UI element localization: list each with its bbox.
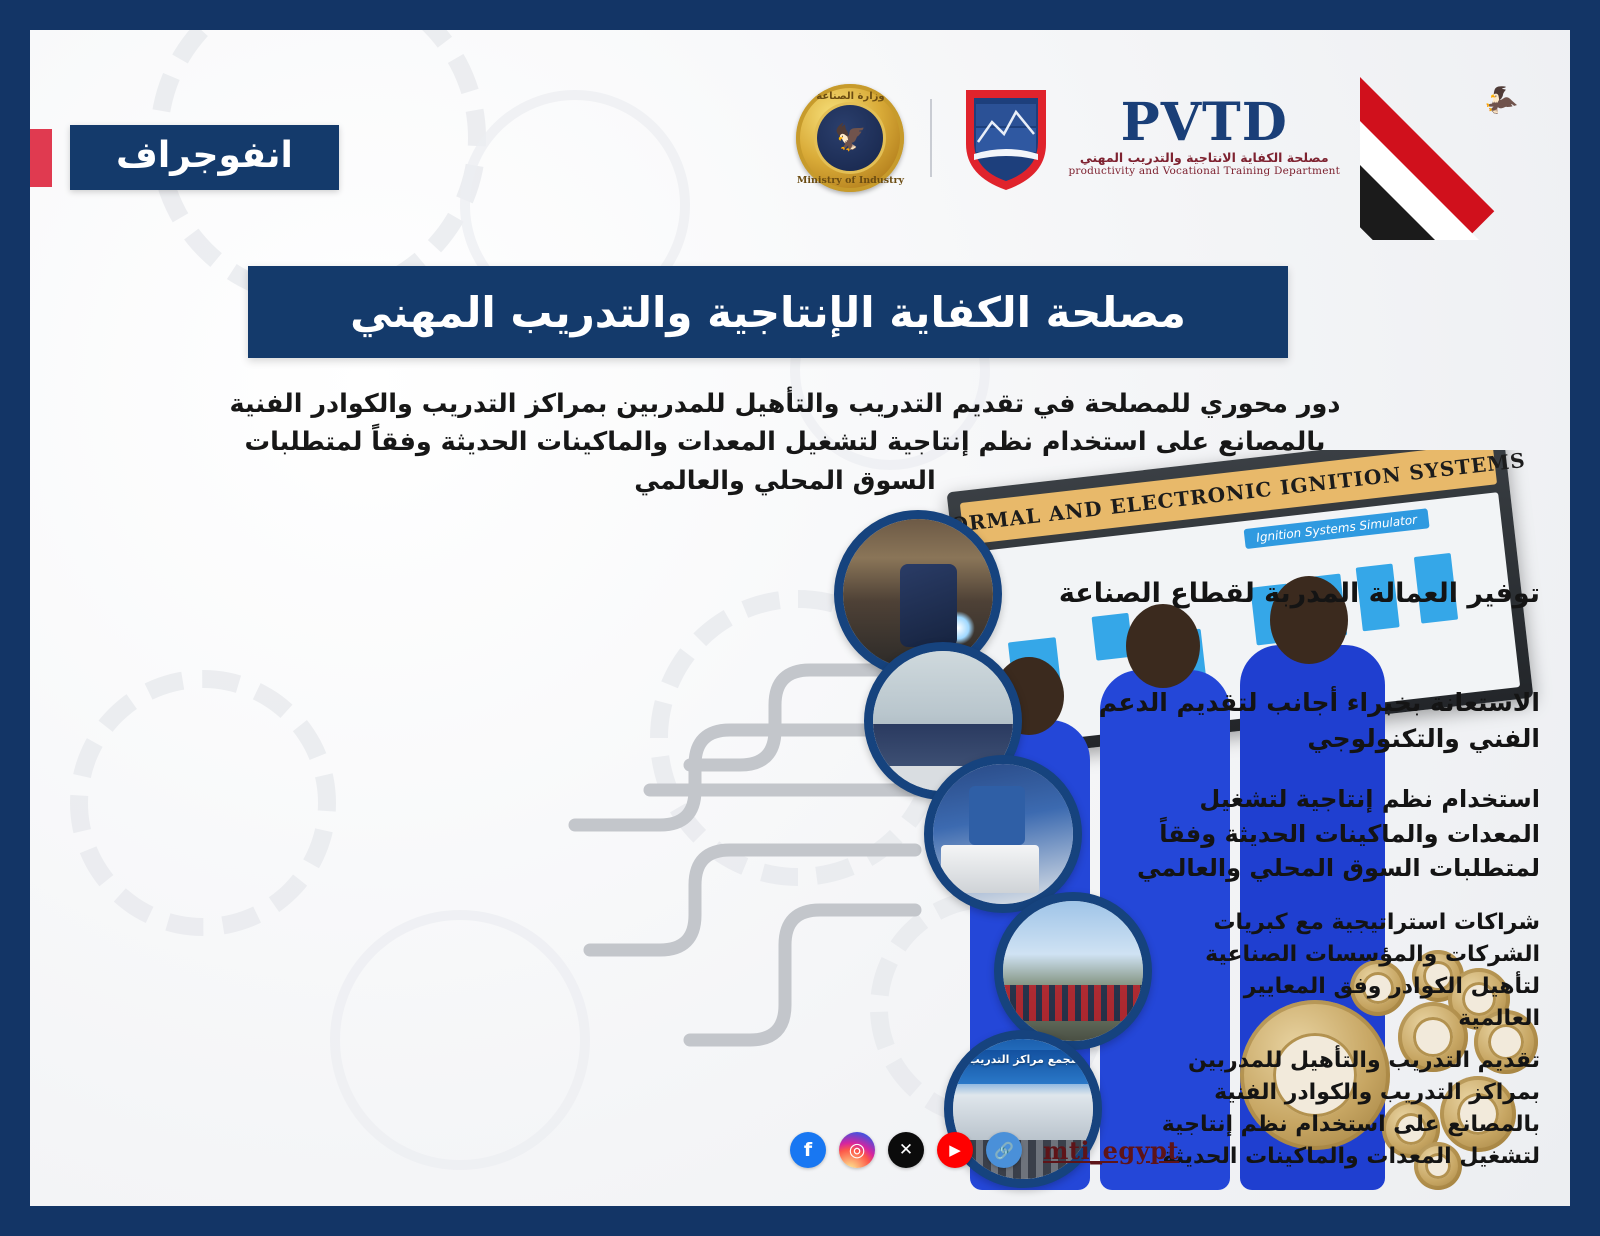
list-item-label: تقديم التدريب والتأهيل للمدربين بمراكز ا… bbox=[1120, 1045, 1540, 1173]
page-title-text: مصلحة الكفاية الإنتاجية والتدريب المهني bbox=[350, 288, 1186, 337]
infographic-poster: انفوجراف bbox=[0, 0, 1600, 1236]
social-handle[interactable]: mti_egypt bbox=[1043, 1136, 1179, 1165]
logo-divider bbox=[930, 99, 932, 177]
infograph-badge: انفوجراف bbox=[30, 125, 339, 190]
facebook-icon[interactable]: f bbox=[790, 1132, 826, 1168]
building-banner-caption: مجمع مراكز التدريب bbox=[953, 1053, 1093, 1066]
list-item-label: شراكات استراتيجية مع كبريات الشركات والم… bbox=[1170, 907, 1540, 1035]
link-icon[interactable]: 🔗 bbox=[986, 1132, 1022, 1168]
pvtd-acronym: PVTD bbox=[1068, 99, 1340, 147]
pvtd-text-block: PVTD مصلحة الكفاية الانتاجية والتدريب ال… bbox=[1068, 99, 1340, 178]
x-twitter-icon[interactable]: ✕ bbox=[888, 1132, 924, 1168]
youtube-icon[interactable]: ▶ bbox=[937, 1132, 973, 1168]
badge-red-bar bbox=[30, 129, 52, 187]
photo-content bbox=[1003, 901, 1143, 1041]
training-session-photo bbox=[924, 755, 1082, 913]
ministry-seal-english: Ministry of Industry bbox=[796, 175, 904, 186]
list-item-label: استخدام نظم إنتاجية لتشغيل المعدات والما… bbox=[1100, 782, 1540, 886]
list-item: استخدام نظم إنتاجية لتشغيل المعدات والما… bbox=[924, 755, 1540, 913]
infograph-badge-label: انفوجراف bbox=[70, 125, 339, 190]
eagle-emblem-icon: 🦅 bbox=[817, 105, 883, 171]
photo-content bbox=[933, 764, 1073, 904]
gear-watermark bbox=[330, 910, 590, 1170]
ministry-seal: وزارة الصناعة 🦅 Ministry of Industry bbox=[796, 84, 904, 192]
pvtd-english-name: productivity and Vocational Training Dep… bbox=[1068, 165, 1340, 177]
shield-logo-icon bbox=[958, 82, 1054, 194]
pvtd-logo: PVTD مصلحة الكفاية الانتاجية والتدريب ال… bbox=[958, 82, 1340, 194]
logo-group: PVTD مصلحة الكفاية الانتاجية والتدريب ال… bbox=[796, 82, 1340, 194]
page-title: مصلحة الكفاية الإنتاجية والتدريب المهني bbox=[248, 266, 1288, 358]
flag-eagle-icon: 🦅 bbox=[1478, 81, 1522, 125]
gear-watermark bbox=[70, 670, 336, 936]
social-links: f ◎ ✕ ▶ 🔗 mti_egypt bbox=[790, 1132, 1179, 1168]
egypt-flag-corner-icon: 🦅 bbox=[1360, 30, 1570, 240]
instagram-icon[interactable]: ◎ bbox=[839, 1132, 875, 1168]
poster-canvas: انفوجراف bbox=[30, 30, 1570, 1206]
eagle-glyph: 🦅 bbox=[834, 125, 866, 151]
list-item-label: توفير العمالة المدربة لقطاع الصناعة bbox=[1020, 574, 1540, 613]
pvtd-arabic-name: مصلحة الكفاية الانتاجية والتدريب المهني bbox=[1068, 150, 1340, 165]
list-item: شراكات استراتيجية مع كبريات الشركات والم… bbox=[994, 892, 1540, 1050]
list-item-label: الاستعانة بخبراء أجانب لتقديم الدعم الفن… bbox=[1040, 685, 1540, 758]
ministry-seal-arabic: وزارة الصناعة bbox=[796, 91, 904, 102]
group-photo bbox=[994, 892, 1152, 1050]
